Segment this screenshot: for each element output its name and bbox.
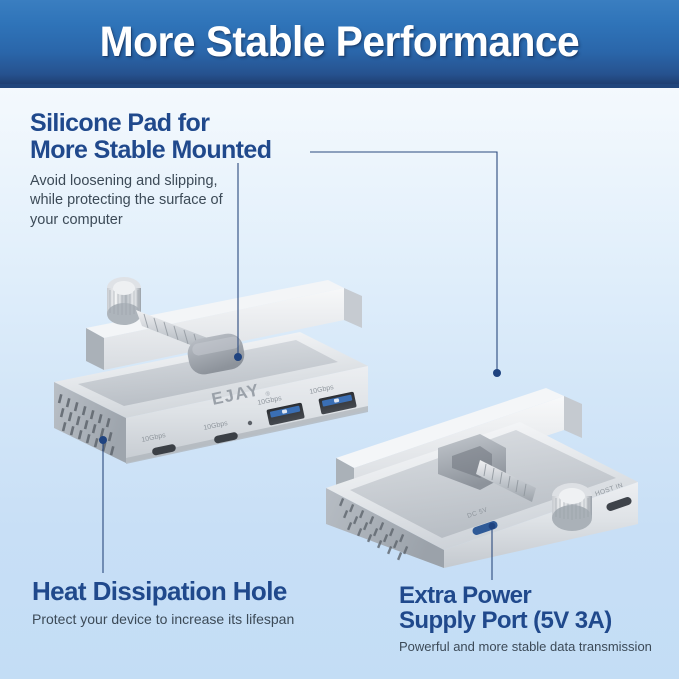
led-indicator [248,421,252,425]
callout-power-heading: Extra Power Supply Port (5V 3A) [399,583,674,634]
callout-heat-dissipation: Heat Dissipation Hole Protect your devic… [32,578,362,628]
callout-silicone-subtext: Avoid loosening and slipping, while prot… [30,172,330,230]
callout-silicone-pad: Silicone Pad for More Stable Mounted Avo… [30,110,330,230]
callout-heat-heading: Heat Dissipation Hole [32,578,362,606]
callout-silicone-heading: Silicone Pad for More Stable Mounted [30,110,330,163]
banner-title: More Stable Performance [100,18,580,67]
thumb-screw-knob [107,277,141,325]
header-banner: More Stable Performance [0,0,679,88]
infographic-canvas: More Stable Performance [0,0,679,679]
thumb-screw-knob [552,483,592,531]
right-end-cap [564,396,582,438]
product-image-right-hub: HOST IN DC 5V [320,318,670,568]
callout-heat-subtext: Protect your device to increase its life… [32,610,362,629]
callout-extra-power-port: Extra Power Supply Port (5V 3A) Powerful… [399,583,674,655]
callout-power-subtext: Powerful and more stable data transmissi… [399,638,674,655]
